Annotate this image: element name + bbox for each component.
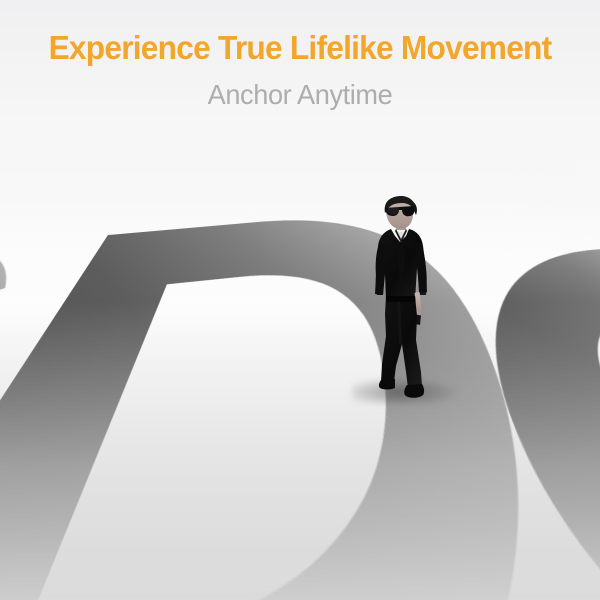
floor-haze — [0, 300, 600, 600]
wordmark-6dof — [0, 150, 600, 600]
page-title: Experience True Lifelike Movement — [12, 0, 588, 64]
promo-banner: Experience True Lifelike Movement Anchor… — [0, 0, 600, 600]
walking-person — [362, 196, 442, 401]
page-subtitle: Anchor Anytime — [9, 64, 591, 109]
headline-block: Experience True Lifelike Movement Anchor… — [0, 0, 600, 109]
ground-plane — [0, 150, 600, 600]
